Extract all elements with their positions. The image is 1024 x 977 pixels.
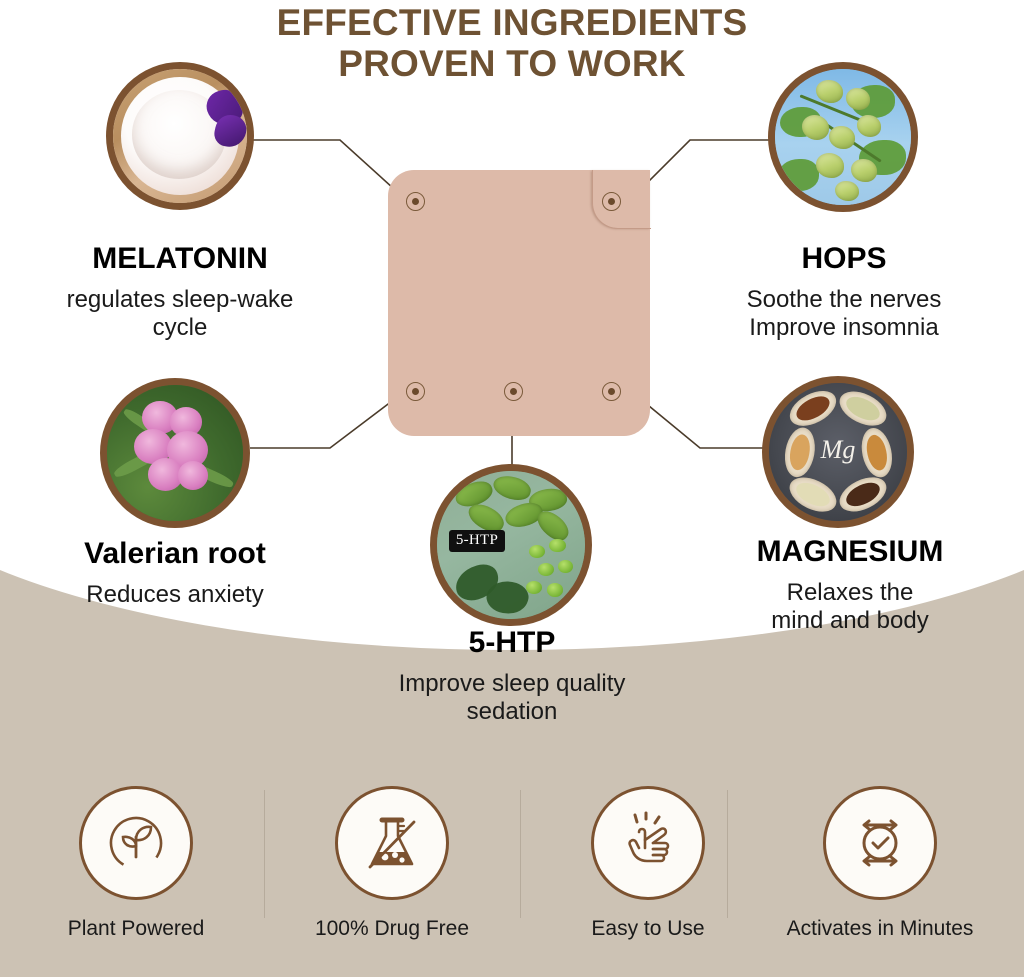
patch-dot-top-left (406, 192, 425, 211)
hops-cone-5 (857, 115, 881, 137)
5-htp-image-tag: 5-HTP (449, 530, 505, 552)
hops-desc-line-2: Improve insomnia (684, 314, 1004, 342)
tapping-hand-icon (615, 810, 681, 876)
ingredient-desc-valerian-root: Reduces anxiety (15, 581, 335, 609)
feature-drug-free[interactable]: 100% Drug Free (264, 786, 520, 941)
5-htp-bean-3 (538, 563, 554, 576)
connector-magnesium (632, 392, 768, 448)
sleep-patch (388, 170, 650, 436)
valerian-floret-6 (178, 461, 208, 490)
ingredient-name-hops: HOPS (684, 242, 1004, 276)
patch-dot-top-right (602, 192, 621, 211)
sprout-icon (103, 810, 169, 876)
ingredient-image-5-htp: 5-HTP (430, 464, 592, 626)
hops-cone-4 (829, 126, 855, 149)
ingredient-desc-hops: Soothe the nerves Improve insomnia (684, 286, 1004, 342)
feature-icon-ring-3 (591, 786, 705, 900)
feature-plant-powered[interactable]: Plant Powered (8, 786, 264, 941)
patch-dot-bottom-left (406, 382, 425, 401)
patch-dot-bottom-right (602, 382, 621, 401)
hops-desc-line-1: Soothe the nerves (684, 286, 1004, 314)
ingredient-image-melatonin (106, 62, 254, 210)
magnesium-desc-line-1: Relaxes the (690, 579, 1010, 607)
connector-hops (632, 140, 776, 198)
hops-cone-3 (802, 115, 829, 139)
feature-label-drug-free: 100% Drug Free (264, 917, 520, 941)
5-htp-bean-2 (549, 539, 565, 552)
5-htp-bean-5 (526, 581, 542, 594)
5-htp-desc-line-1: Improve sleep quality (352, 670, 672, 698)
ingredient-desc-5-htp: Improve sleep quality sedation (352, 670, 672, 726)
feature-easy-to-use[interactable]: Easy to Use (520, 786, 776, 941)
feature-icon-ring-2 (335, 786, 449, 900)
feature-icon-ring-4 (823, 786, 937, 900)
feature-activates-in-minutes[interactable]: Activates in Minutes (752, 786, 1008, 941)
magnesium-symbol-text: Mg (769, 435, 907, 465)
ingredient-name-melatonin: MELATONIN (20, 242, 340, 276)
ingredient-image-magnesium: Mg (762, 376, 914, 528)
ingredient-image-valerian-root (100, 378, 250, 528)
clock-check-arrows-icon (847, 810, 913, 876)
ingredient-desc-magnesium: Relaxes the mind and body (690, 579, 1010, 635)
connector-melatonin (248, 140, 404, 198)
ingredient-name-magnesium: MAGNESIUM (690, 535, 1010, 569)
patch-dot-bottom-center (504, 382, 523, 401)
infographic-root: EFFECTIVE INGREDIENTS PROVEN TO WORK MEL… (0, 0, 1024, 977)
ingredient-name-valerian-root: Valerian root (15, 537, 335, 571)
ingredient-image-hops (768, 62, 918, 212)
ingredient-desc-melatonin: regulates sleep-wake cycle (20, 286, 340, 342)
melatonin-desc-line-1: regulates sleep-wake (20, 286, 340, 314)
hops-leaf-4 (778, 159, 819, 192)
connector-valerian (250, 392, 404, 448)
hops-cone-1 (816, 80, 843, 103)
feature-label-plant-powered: Plant Powered (8, 917, 264, 941)
patch-peeled-corner (592, 170, 650, 228)
hops-cone-2 (846, 88, 870, 110)
no-flask-icon (359, 810, 425, 876)
5-htp-bean-6 (547, 583, 563, 596)
magnesium-desc-line-2: mind and body (690, 607, 1010, 635)
feature-label-easy-to-use: Easy to Use (520, 917, 776, 941)
feature-icon-ring-1 (79, 786, 193, 900)
ingredient-name-5-htp: 5-HTP (352, 626, 672, 660)
hops-cone-8 (835, 181, 859, 201)
5-htp-desc-line-2: sedation (352, 698, 672, 726)
hops-cone-6 (816, 153, 845, 177)
feature-label-activates-in-minutes: Activates in Minutes (752, 917, 1008, 941)
hops-cone-7 (851, 159, 877, 182)
melatonin-desc-line-2: cycle (20, 314, 340, 342)
